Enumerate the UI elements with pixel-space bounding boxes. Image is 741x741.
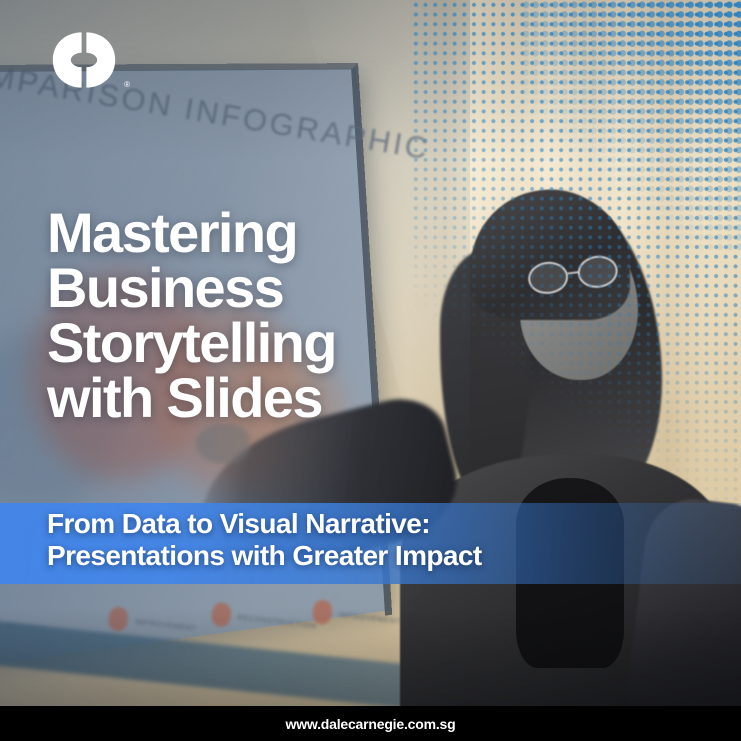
footer-bar: www.dalecarnegie.com.sg	[0, 706, 741, 741]
subtitle-line-2: Presentations with Greater Impact	[47, 540, 707, 572]
website-url[interactable]: www.dalecarnegie.com.sg	[286, 716, 456, 732]
promo-card: COMPARISON INFOGRAPHIC ANALYSIS IMPROVEM…	[0, 0, 741, 741]
headline-line-3: Storytelling	[47, 316, 467, 371]
butterfly-logo-icon	[48, 30, 120, 90]
headline: Mastering Business Storytelling with Sli…	[47, 206, 467, 426]
headline-line-1: Mastering	[47, 206, 467, 261]
headline-line-4: with Slides	[47, 371, 467, 426]
registered-trademark-mark: ®	[124, 81, 130, 89]
headline-line-2: Business	[47, 261, 467, 316]
subtitle: From Data to Visual Narrative: Presentat…	[47, 508, 707, 572]
subtitle-line-1: From Data to Visual Narrative:	[47, 508, 707, 540]
halftone-dot-pattern-large	[521, 0, 741, 250]
dale-carnegie-logo[interactable]: ®	[48, 30, 120, 90]
